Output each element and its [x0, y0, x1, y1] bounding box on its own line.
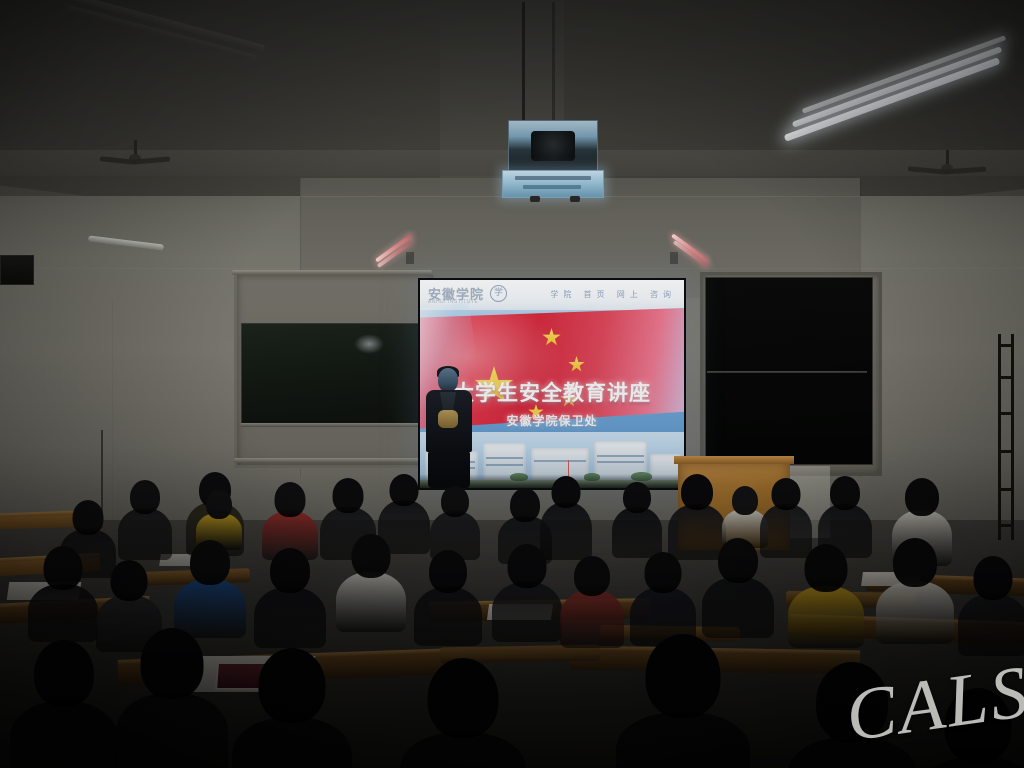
audience-person-torso [612, 507, 662, 558]
audience-person-head [130, 480, 160, 514]
audience-person-head [508, 544, 547, 588]
audience-person-head [830, 476, 860, 510]
audience-person-torso [702, 577, 774, 638]
audience-person-head [816, 662, 888, 743]
audience-person [630, 552, 696, 646]
audience-person-head [190, 540, 230, 585]
audience-person-torso [232, 717, 352, 768]
audience-person-head [141, 628, 204, 699]
audience-person [560, 556, 624, 648]
audience-person-torso [560, 590, 624, 648]
audience-person-head [905, 478, 939, 516]
audience-person-torso [10, 701, 118, 768]
audience [0, 0, 1024, 768]
audience-person [10, 640, 118, 768]
audience-person-head [73, 500, 104, 535]
audience-person-torso [414, 587, 482, 646]
audience-person-torso [958, 594, 1024, 656]
audience-person-torso [492, 582, 562, 642]
audience-person [28, 546, 98, 642]
audience-person [788, 544, 864, 648]
audience-person [400, 658, 526, 768]
audience-person-torso [118, 508, 172, 560]
audience-person [918, 688, 1024, 768]
audience-person [492, 544, 562, 642]
audience-person-torso [336, 572, 406, 632]
audience-person [174, 540, 246, 638]
audience-person [430, 486, 480, 560]
audience-person-head [270, 548, 310, 593]
audience-person-head [552, 476, 581, 508]
audience-person-head [510, 488, 540, 522]
audience-person-head [441, 486, 469, 517]
audience-person-torso [116, 693, 228, 768]
audience-person [118, 480, 172, 560]
audience-person-head [732, 486, 758, 515]
audience-person-head [893, 538, 937, 587]
audience-person-head [574, 556, 610, 596]
audience-person-head [428, 658, 499, 738]
audience-person-head [429, 550, 467, 593]
audience-person-head [718, 538, 758, 583]
audience-person-head [681, 474, 713, 510]
audience-person-head [974, 556, 1013, 600]
audience-person [702, 538, 774, 638]
audience-person [612, 482, 662, 558]
audience-person-torso [28, 584, 98, 642]
audience-person [958, 556, 1024, 656]
audience-person-torso [876, 581, 954, 644]
audience-person-head [623, 482, 651, 513]
audience-person [876, 538, 954, 644]
audience-person-head [945, 688, 1012, 763]
audience-person-head [44, 546, 83, 590]
lecture-hall-photo: 安徽学院 ANHUI INSTITUTE 学 学院 首页 网上 咨询 大学生安全… [0, 0, 1024, 768]
audience-person-head [259, 648, 326, 723]
audience-person-head [352, 534, 391, 578]
audience-person-head [206, 490, 232, 519]
audience-person-torso [788, 586, 864, 648]
audience-person-torso [254, 587, 326, 648]
audience-person-head [275, 482, 306, 517]
audience-person-head [645, 552, 682, 593]
audience-person [232, 648, 352, 768]
audience-person-head [805, 544, 848, 592]
audience-person [116, 628, 228, 768]
audience-person [414, 550, 482, 646]
audience-person [336, 534, 406, 632]
audience-person [788, 662, 916, 768]
audience-person-head [34, 640, 94, 707]
audience-person-torso [616, 712, 750, 768]
audience-person [616, 634, 750, 768]
audience-person-head [646, 634, 721, 718]
audience-person-head [390, 474, 419, 506]
audience-person-head [772, 478, 801, 510]
audience-person-head [111, 560, 148, 601]
audience-person-head [333, 478, 364, 513]
audience-person [254, 548, 326, 648]
